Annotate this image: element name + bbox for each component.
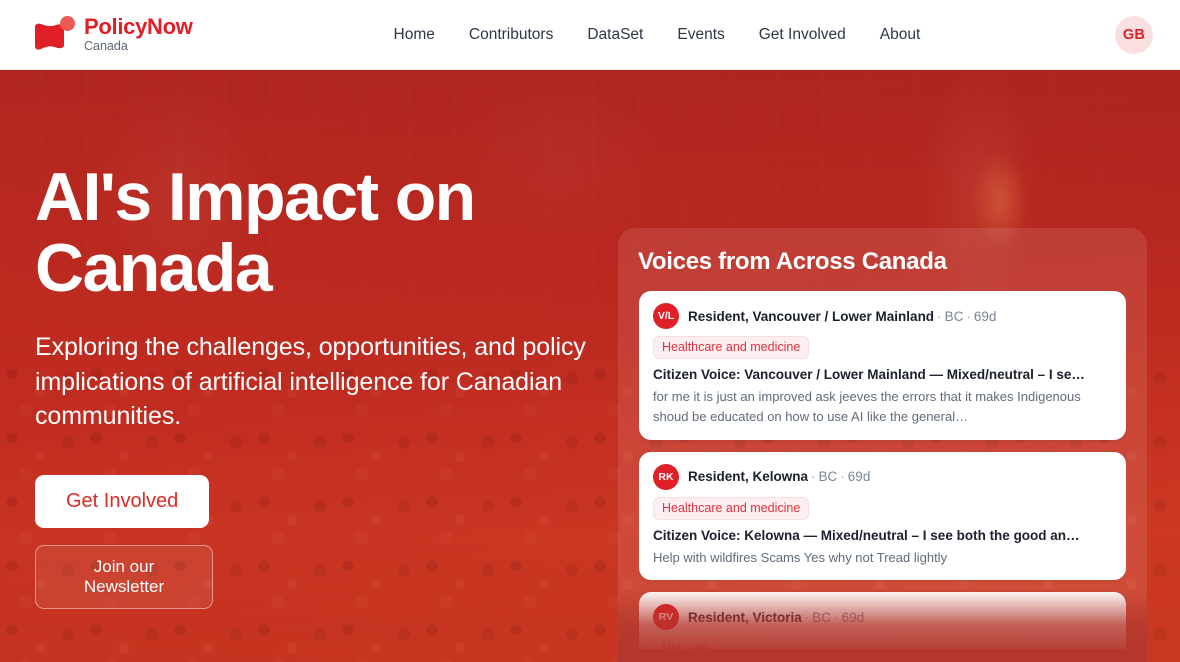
voices-panel: Voices from Across Canada V/L Resident, … — [618, 228, 1147, 662]
avatar: RK — [653, 464, 679, 490]
list-item[interactable]: RK Resident, Kelowna·BC·69d Healthcare a… — [639, 452, 1126, 581]
meta-separator-icon: · — [805, 610, 810, 625]
voices-list[interactable]: V/L Resident, Vancouver / Lower Mainland… — [639, 291, 1126, 649]
brand-name: PolicyNow — [84, 16, 193, 38]
voice-headline: Citizen Voice: Vancouver / Lower Mainlan… — [653, 367, 1112, 382]
site-header: PolicyNow Canada Home Contributors DataS… — [0, 0, 1180, 70]
status-badge: Healthcare and medicine — [653, 497, 809, 520]
voice-age: 69d — [848, 469, 871, 484]
hero-cta-group: Get Involved Join our Newsletter — [35, 475, 595, 609]
voice-body: for me it is just an improved ask jeeves… — [653, 387, 1112, 427]
meta-separator-icon: · — [937, 309, 942, 324]
logo-dot-icon — [60, 16, 75, 31]
status-badge: Not sure — [653, 637, 718, 649]
nav-item-dataset[interactable]: DataSet — [587, 26, 643, 44]
avatar: RV — [653, 604, 679, 630]
voice-author: Resident, Kelowna — [688, 469, 808, 484]
nav-item-contributors[interactable]: Contributors — [469, 26, 553, 44]
page-title: AI's Impact on Canada — [35, 162, 595, 303]
join-newsletter-button[interactable]: Join our Newsletter — [35, 545, 213, 609]
hero-subtitle: Exploring the challenges, opportunities,… — [35, 330, 595, 433]
voices-footer: 1,011 Canadians have shared their though… — [618, 652, 1147, 662]
avatar: V/L — [653, 303, 679, 329]
main-navigation: Home Contributors DataSet Events Get Inv… — [394, 26, 921, 44]
hero-section: AI's Impact on Canada Exploring the chal… — [0, 70, 1180, 662]
voice-region: BC — [812, 610, 831, 625]
voice-author: Resident, Vancouver / Lower Mainland — [688, 309, 934, 324]
flag-logo-icon — [33, 16, 75, 54]
brand-logo[interactable]: PolicyNow Canada — [33, 16, 193, 54]
nav-item-events[interactable]: Events — [677, 26, 724, 44]
voice-meta: Resident, Kelowna·BC·69d — [688, 469, 870, 484]
status-badge: Healthcare and medicine — [653, 336, 809, 359]
list-item[interactable]: RV Resident, Victoria·BC·69d Not sure Ci… — [639, 592, 1126, 649]
voice-age: 69d — [842, 610, 865, 625]
voice-region: BC — [945, 309, 964, 324]
get-involved-button[interactable]: Get Involved — [35, 475, 209, 528]
voice-age: 69d — [974, 309, 997, 324]
hero-content: AI's Impact on Canada Exploring the chal… — [35, 162, 595, 609]
list-item[interactable]: V/L Resident, Vancouver / Lower Mainland… — [639, 291, 1126, 440]
voice-headline: Citizen Voice: Kelowna — Mixed/neutral –… — [653, 528, 1112, 543]
meta-separator-icon: · — [834, 610, 839, 625]
nav-item-home[interactable]: Home — [394, 26, 435, 44]
voice-author: Resident, Victoria — [688, 610, 802, 625]
brand-subtitle: Canada — [84, 40, 193, 53]
voice-meta: Resident, Vancouver / Lower Mainland·BC·… — [688, 309, 996, 324]
voices-panel-title: Voices from Across Canada — [638, 248, 947, 276]
meta-separator-icon: · — [966, 309, 971, 324]
user-avatar[interactable]: GB — [1115, 16, 1153, 54]
voice-meta: Resident, Victoria·BC·69d — [688, 610, 864, 625]
nav-item-about[interactable]: About — [880, 26, 921, 44]
meta-separator-icon: · — [840, 469, 845, 484]
nav-item-get-involved[interactable]: Get Involved — [759, 26, 846, 44]
voice-body: Help with wildfires Scams Yes why not Tr… — [653, 548, 1112, 568]
meta-separator-icon: · — [811, 469, 816, 484]
voice-region: BC — [819, 469, 838, 484]
